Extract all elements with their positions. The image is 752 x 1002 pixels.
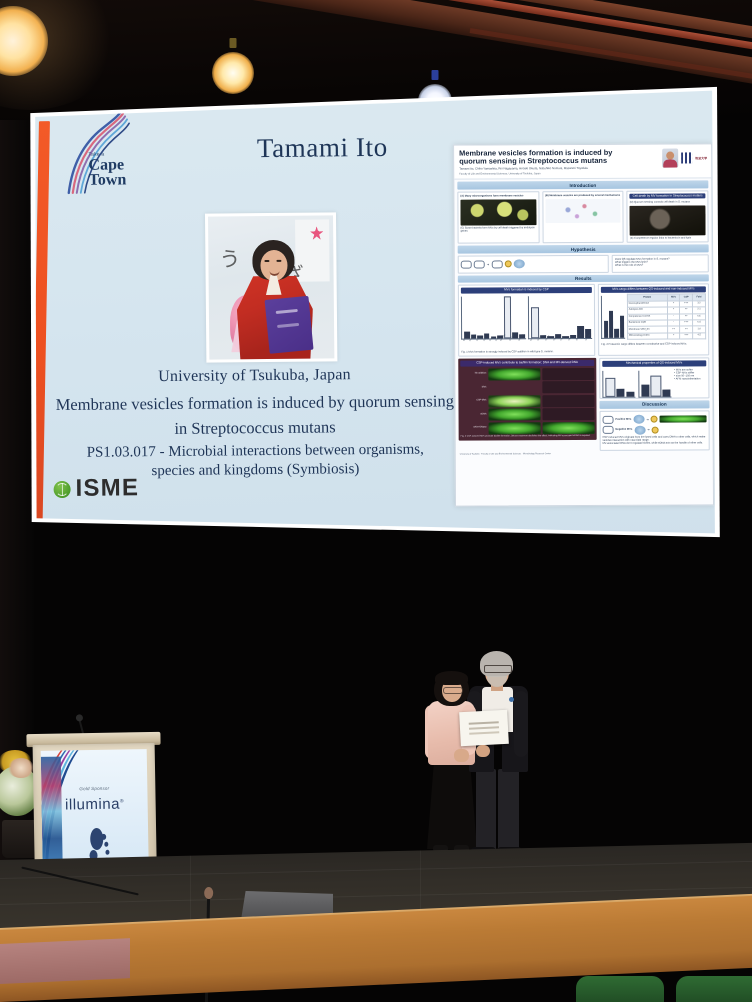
hypothesis-item: What is the role of MVs? (615, 264, 706, 268)
apron-left-section (0, 938, 130, 984)
biofilm-icon (660, 415, 707, 422)
discussion-panel: Positive MVs ➜ Negative MVs (599, 410, 709, 451)
biofilm-image (488, 395, 540, 407)
arm (514, 691, 528, 757)
cape-town-tagline: Take a (88, 152, 126, 157)
poster-results-row-1: MVs formation is induced by CSP (455, 281, 712, 357)
cape-town-line1: Cape (88, 157, 126, 173)
arrow-icon: ➜ (646, 417, 649, 421)
award-presentation-group (418, 645, 538, 870)
bar-chart-4 (601, 296, 625, 339)
poster-affiliation: Faculty of Life and Environmental Scienc… (459, 172, 641, 176)
bar-chart-3 (602, 370, 635, 397)
hand (454, 749, 469, 762)
mechanics-panel: Mechanical properties of QS-induced MVs (599, 358, 709, 399)
poster-results-row-2: CSP-induced MVs contribute to biofilm fo… (455, 356, 712, 452)
tem-image (630, 205, 706, 235)
isme-logo: ISME (53, 474, 139, 503)
bacterial-cell-icon (602, 426, 613, 434)
lysed-cell-icon (634, 425, 645, 434)
cape-town-line2: Town (89, 172, 127, 188)
poster-header-logos: 筑波大学 (662, 148, 707, 167)
biofilm-image (489, 408, 541, 420)
poster-thumbnail: 筑波大学 Membrane vesicles formation is indu… (453, 143, 714, 506)
bar-series (530, 296, 591, 338)
gold-sponsor-label: Gold Sponsor (41, 785, 147, 792)
poster-panel: (B) Membrane vesicles are produced by se… (542, 191, 624, 244)
biofilm-image-empty (542, 367, 594, 379)
bar-series (464, 297, 525, 339)
author-photo (662, 148, 678, 167)
biofilm-image-empty (542, 381, 594, 393)
panel-caption: (C) Some bacteria form MVs by cell death… (461, 226, 537, 233)
bar-chart-3b (638, 370, 671, 397)
biofilm-image-empty (542, 408, 594, 420)
result-title: MVs cargo differs between QS-induced and… (601, 286, 706, 292)
skirt (427, 761, 477, 849)
biofilm-note: Fig. 3 CSP-induced MVs promote biofilm f… (461, 435, 595, 438)
bacterial-cell-icon (474, 260, 485, 268)
biofilm-image (542, 421, 594, 433)
panel-subtitle: Cell death by MV formation in Streptococ… (630, 193, 706, 199)
result-panel-chart: MVs formation is induced by CSP (458, 284, 595, 357)
bacterial-cell-icon (461, 260, 472, 268)
photo-kanji: う (219, 243, 240, 273)
arrow-icon: ➜ (487, 262, 490, 266)
biofilm-image (488, 381, 540, 393)
poster-section-discussion: Discussion (599, 400, 709, 408)
bacterial-cell-icon (602, 415, 613, 423)
photo-scene: Take a Cape Town Tamami Ito う ざ (0, 0, 752, 1002)
poster-panel: Cell death by MV formation in Streptococ… (627, 190, 709, 243)
illumina-text: illumina (65, 796, 120, 814)
mechanism-diagram (545, 198, 621, 222)
hypothesis-questions: Does QS regulate MVs formation in S. mut… (612, 254, 709, 273)
lysed-cell-icon (513, 260, 524, 269)
bacterial-cell-icon (491, 260, 502, 268)
trouser-leg (498, 769, 519, 853)
bar-series (641, 370, 670, 396)
cape-town-logo: Take a Cape Town (58, 108, 155, 195)
projection-screen: Take a Cape Town Tamami Ito う ざ (24, 84, 724, 554)
poster-title-line-1: Membrane vesicles formation is induced b… (45, 390, 465, 415)
hair (480, 651, 513, 677)
eyeglasses-icon (443, 687, 463, 694)
bar-series (605, 370, 634, 396)
result-title: MVs formation is induced by CSP (461, 287, 592, 293)
discussion-note: MV-associated DNA don't regulate biofilm… (602, 442, 706, 446)
bar-chart-2 (527, 296, 592, 339)
poster-panel: (A) Many microorganisms form membrane ve… (457, 191, 539, 244)
university-logo: 筑波大学 (695, 156, 707, 160)
registered-mark: ® (120, 798, 124, 804)
biofilm-image (489, 422, 541, 434)
bar-series (604, 296, 624, 338)
poster-hypothesis-row: ➜ Does QS regulate MVs formation in S. m… (455, 252, 712, 273)
biofilm-image-grid: No addition MVs CSP-MVs eDNA MVs+DNase (460, 367, 594, 434)
award-certificate (459, 710, 509, 746)
bar-chart-1-xlabels: WTΔcomXΔcomRΔlytFΔcipBΔcipIWT+CSPΔX+CSPΔ… (461, 341, 526, 343)
eyeglasses-icon (484, 665, 512, 673)
illumina-wordmark: illumina® (41, 795, 147, 814)
hair-fringe (435, 671, 468, 685)
panel-caption: (E) Competence regulon links to bacterio… (630, 237, 706, 241)
presenter-name: Tamami Ito (172, 131, 472, 165)
lysed-cell-icon (633, 415, 644, 424)
slide-text-block: University of Tsukuba, Japan Membrane ve… (44, 365, 465, 483)
biofilm-image (488, 368, 540, 380)
poster-intro-row: (A) Many microorganisms form membrane ve… (454, 188, 711, 244)
bar-chart-1 (461, 297, 526, 340)
result-title: CSP-induced MVs contribute to biofilm fo… (460, 360, 594, 366)
hand (476, 745, 490, 757)
micrograph-image (460, 199, 536, 225)
hypothesis-diagram: ➜ (458, 255, 609, 274)
eye (276, 260, 281, 262)
bar-chart-2-xlabels: WTΔcomXΔcomRΔlytFΔcipBΔcipIWT+CSPΔF+CSP (528, 340, 593, 342)
lapel-pin (509, 697, 514, 702)
isme-wordmark: ISME (75, 474, 139, 503)
award-slide: Take a Cape Town Tamami Ito う ざ (22, 81, 726, 558)
affiliation-line: University of Tsukuba, Japan (44, 365, 464, 387)
poster-header: 筑波大学 Membrane vesicles formation is indu… (454, 144, 711, 180)
result-title: Mechanical properties of QS-induced MVs (602, 361, 706, 367)
cargo-table: ProteinMVsCSPFold Glucosyltransferase+++… (627, 294, 707, 340)
panel-caption: (A) Many microorganisms form membrane ve… (460, 194, 536, 198)
globe-icon (54, 480, 71, 497)
eye (264, 260, 269, 262)
membrane-vesicle-icon (504, 261, 511, 268)
membrane-vesicle-icon (652, 426, 659, 433)
panel-caption: (B) Membrane vesicles are produced by se… (545, 194, 621, 198)
result-caption: Fig. 1 MVs formation is strongly induced… (461, 350, 592, 354)
diploma-folder (265, 296, 314, 354)
membrane-vesicle-icon (651, 416, 658, 423)
qr-code-icon (681, 152, 692, 163)
biofilm-panel: CSP-induced MVs contribute to biofilm fo… (458, 358, 596, 440)
presenter-photo: う ざ (205, 212, 337, 362)
audience-seat (576, 976, 664, 1002)
biofilm-image-empty (542, 394, 594, 406)
arrow-icon: ➜ (647, 428, 650, 432)
panel-caption: (D) Quorum sensing controls cell death i… (630, 200, 706, 204)
audience-seat (676, 976, 752, 1002)
result-caption: Fig. 2 Proteomic cargo differs between c… (601, 343, 706, 347)
poster-title-line-2: quorum sensing in Streptococcus mutans (459, 156, 607, 166)
poster-title-line-2: in Streptococcus mutans (45, 415, 465, 440)
cherry-blossom-icon (310, 226, 323, 239)
result-panel-table: MVs cargo differs between QS-induced and… (598, 283, 709, 356)
trouser-leg (476, 769, 496, 853)
